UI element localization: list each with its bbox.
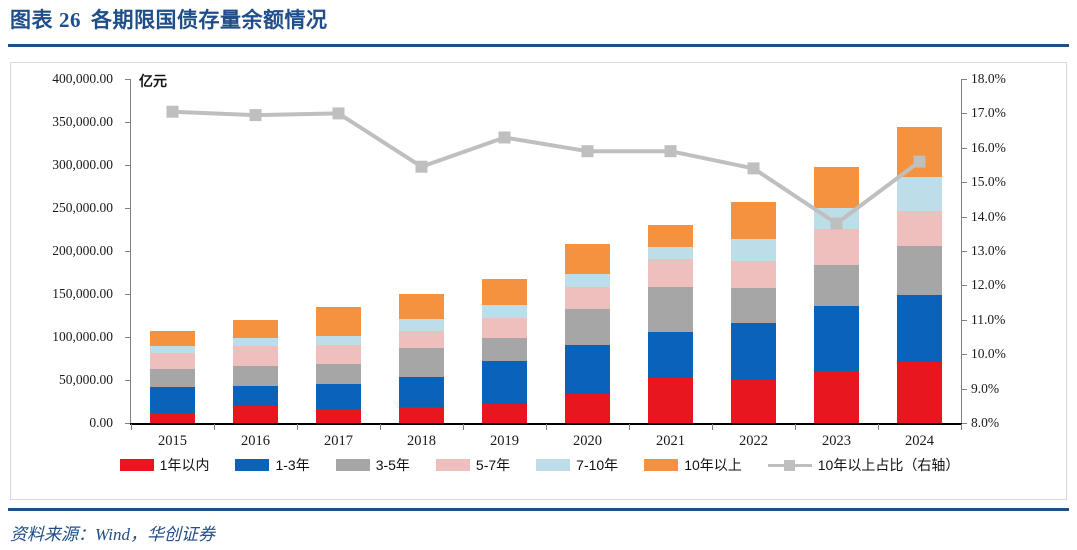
line-series-layer (131, 79, 961, 423)
y-axis-right-tick (962, 354, 967, 355)
legend-label: 10年以上占比（右轴） (818, 455, 960, 475)
y-axis-right-tick-label: 11.0% (971, 312, 1005, 328)
line-series-marker[interactable] (250, 109, 262, 121)
plot-area (131, 79, 961, 423)
x-axis-tick (297, 424, 298, 430)
line-series-marker[interactable] (582, 145, 594, 157)
legend-label: 5-7年 (476, 455, 510, 475)
y-axis-left-tick-label: 200,000.00 (52, 243, 113, 259)
x-axis-tick-label: 2019 (490, 433, 519, 450)
y-axis-right-tick-label: 13.0% (971, 243, 1006, 259)
x-axis-tick-label: 2017 (324, 433, 353, 450)
line-series-marker[interactable] (831, 218, 843, 230)
y-axis-right-tick (962, 182, 967, 183)
x-axis-tick (712, 424, 713, 430)
legend-item[interactable]: 5-7年 (436, 455, 510, 475)
legend-swatch (644, 459, 678, 471)
y-axis-left-tick-label: 400,000.00 (52, 71, 113, 87)
x-axis-tick (463, 424, 464, 430)
x-axis-tick (629, 424, 630, 430)
legend-item[interactable]: 10年以上占比（右轴） (768, 455, 960, 475)
y-axis-right-tick-label: 8.0% (971, 415, 999, 431)
source-note: 资料来源：Wind，华创证券 (10, 520, 215, 545)
line-series-marker[interactable] (333, 107, 345, 119)
y-axis-right-tick-label: 9.0% (971, 381, 999, 397)
legend-label: 3-5年 (376, 455, 410, 475)
y-axis-left-tick (125, 208, 130, 209)
legend-item[interactable]: 7-10年 (536, 455, 618, 475)
chart-container: 亿元 0.0050,000.00100,000.00150,000.00200,… (10, 62, 1067, 500)
figure-title-text: 各期限国债存量余额情况 (91, 8, 328, 32)
y-axis-right-tick (962, 217, 967, 218)
figure-header: 图表26各期限国债存量余额情况 (0, 0, 1077, 52)
y-axis-right-tick (962, 79, 967, 80)
y-axis-left-tick-label: 250,000.00 (52, 200, 113, 216)
y-axis-left-tick (125, 165, 130, 166)
y-axis-right-tick-label: 18.0% (971, 71, 1006, 87)
legend-swatch (336, 459, 370, 471)
legend-swatch (235, 459, 269, 471)
y-axis-right-tick (962, 285, 967, 286)
y-axis-left-tick (125, 251, 130, 252)
title-divider (8, 44, 1069, 47)
line-series-marker[interactable] (748, 162, 760, 174)
y-axis-left-tick-label: 350,000.00 (52, 114, 113, 130)
y-axis-left-tick-label: 100,000.00 (52, 329, 113, 345)
y-axis-left-tick (125, 380, 130, 381)
x-axis-tick-label: 2016 (241, 433, 270, 450)
y-axis-left-tick (125, 294, 130, 295)
x-axis-tick (878, 424, 879, 430)
x-axis-tick (214, 424, 215, 430)
legend-swatch (536, 459, 570, 471)
legend-swatch (436, 459, 470, 471)
y-axis-right-tick (962, 320, 967, 321)
y-axis-left-tick (125, 79, 130, 80)
y-axis-left-tick-label: 300,000.00 (52, 157, 113, 173)
y-axis-right-tick-label: 17.0% (971, 105, 1006, 121)
x-axis-tick (131, 424, 132, 430)
x-axis-tick-label: 2018 (407, 433, 436, 450)
y-axis-right-tick (962, 423, 967, 424)
y-axis-left-tick-label: 50,000.00 (59, 372, 113, 388)
y-axis-right-tick-label: 10.0% (971, 346, 1006, 362)
page-title: 图表26各期限国债存量余额情况 (10, 4, 328, 34)
legend-label: 1年以内 (160, 455, 210, 475)
x-axis-tick-label: 2020 (573, 433, 602, 450)
line-series-path (173, 112, 920, 224)
legend-item[interactable]: 1年以内 (120, 455, 210, 475)
y-axis-right-tick (962, 113, 967, 114)
line-series-marker[interactable] (499, 132, 511, 144)
y-axis-right-tick-label: 16.0% (971, 140, 1006, 156)
y-axis-right-tick-label: 15.0% (971, 174, 1006, 190)
x-axis-tick-label: 2015 (158, 433, 187, 450)
legend-item[interactable]: 1-3年 (235, 455, 309, 475)
legend-line-icon (768, 459, 812, 471)
x-axis-tick-label: 2023 (822, 433, 851, 450)
legend-label: 7-10年 (576, 455, 618, 475)
x-axis-tick-label: 2021 (656, 433, 685, 450)
y-axis-left-tick-label: 0.00 (89, 415, 113, 431)
line-series-marker[interactable] (665, 145, 677, 157)
legend-label: 1-3年 (275, 455, 309, 475)
chart-legend: 1年以内1-3年3-5年5-7年7-10年10年以上10年以上占比（右轴） (11, 455, 1068, 475)
y-axis-right-tick (962, 389, 967, 390)
y-axis-left-tick-label: 150,000.00 (52, 286, 113, 302)
x-axis-tick (546, 424, 547, 430)
line-series-marker[interactable] (914, 156, 926, 168)
y-axis-left-tick (125, 337, 130, 338)
line-series-marker[interactable] (167, 106, 179, 118)
y-axis-right-tick (962, 148, 967, 149)
x-axis-tick-label: 2024 (905, 433, 934, 450)
x-axis-tick-label: 2022 (739, 433, 768, 450)
legend-swatch (120, 459, 154, 471)
y-axis-left-tick (125, 122, 130, 123)
line-series-marker[interactable] (416, 161, 428, 173)
y-axis-right-tick-label: 14.0% (971, 209, 1006, 225)
x-axis-tick (380, 424, 381, 430)
footer-divider (8, 508, 1069, 511)
y-axis-left-tick (125, 423, 130, 424)
figure-number: 26 (59, 8, 81, 32)
y-axis-right-tick (962, 251, 967, 252)
legend-label: 10年以上 (684, 455, 742, 475)
legend-item[interactable]: 3-5年 (336, 455, 410, 475)
figure-label: 图表 (10, 8, 53, 32)
x-axis-tick (961, 424, 962, 430)
legend-item[interactable]: 10年以上 (644, 455, 742, 475)
x-axis-tick (795, 424, 796, 430)
y-axis-right-tick-label: 12.0% (971, 277, 1006, 293)
